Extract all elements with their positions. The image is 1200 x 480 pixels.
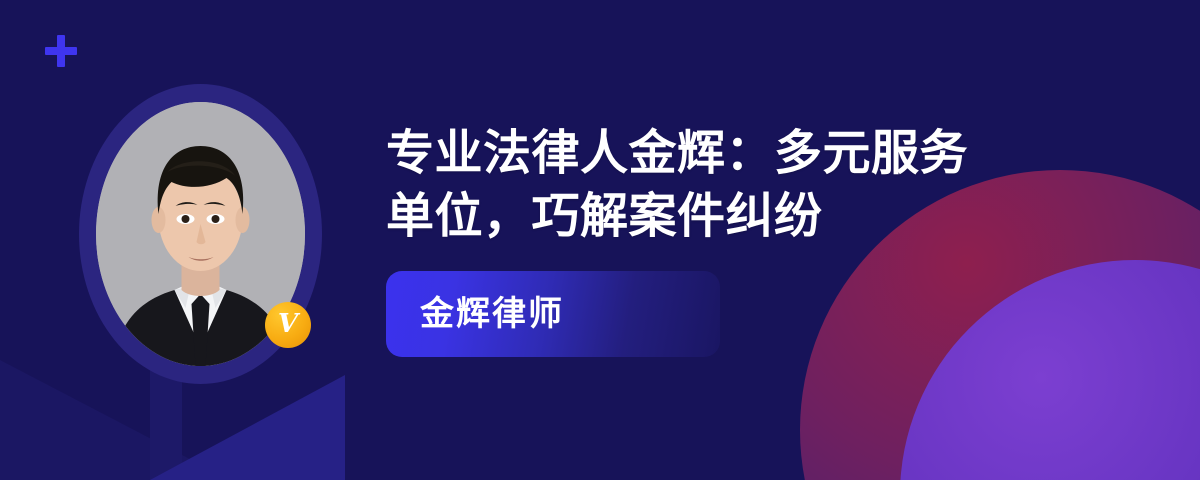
verified-v-glyph: V xyxy=(278,311,298,337)
banner-content: 专业法律人金辉：多元服务单位，巧解案件纠纷 金辉律师 xyxy=(386,122,1176,357)
page-title: 专业法律人金辉：多元服务单位，巧解案件纠纷 xyxy=(386,122,1016,249)
lawyer-profile-banner: V 专业法律人金辉：多元服务单位，巧解案件纠纷 金辉律师 xyxy=(0,0,1200,480)
avatar: V xyxy=(79,84,322,384)
plus-icon xyxy=(44,34,78,68)
verified-badge-icon: V xyxy=(265,302,311,348)
lawyer-name-badge[interactable]: 金辉律师 xyxy=(386,271,720,357)
lawyer-name-label: 金辉律师 xyxy=(420,297,564,331)
vertical-bar-decoration xyxy=(150,370,182,480)
